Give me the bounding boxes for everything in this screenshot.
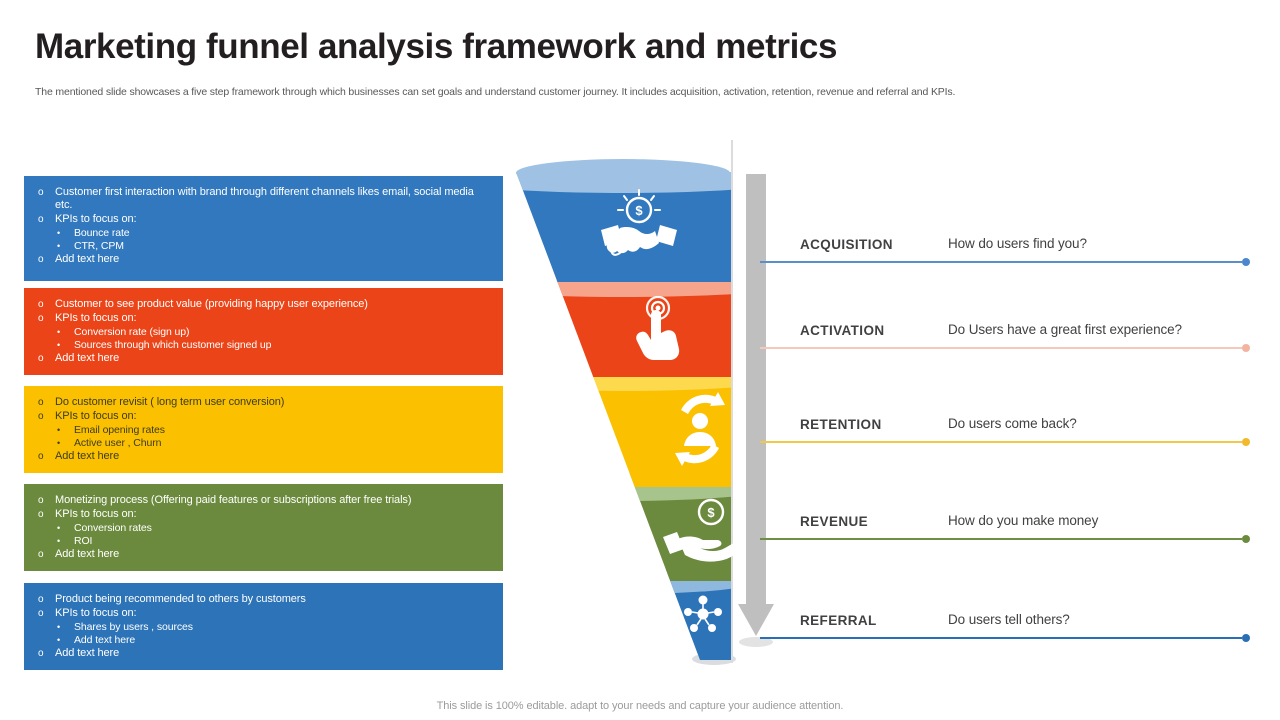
stage-end-dot — [1242, 634, 1250, 642]
stage-underline — [760, 637, 1242, 639]
info-line-text: Add text here — [74, 634, 491, 647]
info-line-text: KPIs to focus on: — [55, 508, 491, 521]
info-box-revenue: oMonetizing process (Offering paid featu… — [24, 484, 503, 571]
info-line: •Shares by users , sources — [38, 621, 491, 634]
stage-row-activation: ACTIVATIONDo Users have a great first ex… — [760, 347, 1250, 348]
info-line: •Active user , Churn — [38, 437, 491, 450]
info-line-text: Email opening rates — [74, 424, 491, 437]
bullet-marker: o — [38, 494, 55, 508]
stage-question: Do users come back? — [948, 416, 1077, 431]
info-line-text: KPIs to focus on: — [55, 312, 491, 325]
info-line: oDo customer revisit ( long term user co… — [38, 396, 491, 410]
bullet-marker: o — [38, 186, 55, 200]
stage-underline — [760, 261, 1242, 263]
bullet-marker: o — [38, 213, 55, 227]
info-line-text: Add text here — [55, 352, 491, 365]
bullet-marker: • — [57, 535, 74, 548]
info-line: oKPIs to focus on: — [38, 607, 491, 621]
funnel-top-rim — [516, 159, 730, 187]
info-line-text: Product being recommended to others by c… — [55, 593, 491, 606]
info-line-text: Customer first interaction with brand th… — [55, 186, 491, 213]
info-line-text: CTR, CPM — [74, 240, 491, 253]
info-line: oAdd text here — [38, 253, 491, 267]
info-line: oAdd text here — [38, 647, 491, 661]
info-line: oProduct being recommended to others by … — [38, 593, 491, 607]
info-line-text: Monetizing process (Offering paid featur… — [55, 494, 491, 507]
bullet-marker: o — [38, 548, 55, 562]
info-line-text: Active user , Churn — [74, 437, 491, 450]
funnel-segment-activation — [498, 269, 764, 377]
stage-label: ACTIVATION — [800, 323, 885, 338]
info-box-referral: oProduct being recommended to others by … — [24, 583, 503, 670]
info-line-text: Conversion rates — [74, 522, 491, 535]
bullet-marker: • — [57, 240, 74, 253]
info-line-text: Do customer revisit ( long term user con… — [55, 396, 491, 409]
bullet-marker: o — [38, 450, 55, 464]
page-subtitle: The mentioned slide showcases a five ste… — [35, 86, 1195, 100]
bullet-marker: o — [38, 253, 55, 267]
bullet-marker: • — [57, 437, 74, 450]
info-line: •CTR, CPM — [38, 240, 491, 253]
stage-end-dot — [1242, 438, 1250, 446]
stage-question: Do Users have a great first experience? — [948, 322, 1182, 337]
stage-row-acquisition: ACQUISITIONHow do users find you? — [760, 261, 1250, 262]
funnel-segment-referral — [498, 568, 764, 670]
info-line: oAdd text here — [38, 548, 491, 562]
info-line: •Add text here — [38, 634, 491, 647]
info-line-text: Add text here — [55, 647, 491, 660]
info-line: oKPIs to focus on: — [38, 508, 491, 522]
info-line-text: Customer to see product value (providing… — [55, 298, 491, 311]
page-title: Marketing funnel analysis framework and … — [35, 28, 837, 67]
bullet-marker: • — [57, 227, 74, 240]
info-line-text: Sources through which customer signed up — [74, 339, 491, 352]
info-line: oKPIs to focus on: — [38, 410, 491, 424]
bullet-marker: o — [38, 607, 55, 621]
stage-underline — [760, 441, 1242, 443]
info-box-acquisition: oCustomer first interaction with brand t… — [24, 176, 503, 281]
bullet-marker: o — [38, 593, 55, 607]
info-line-text: Add text here — [55, 450, 491, 463]
bullet-marker: o — [38, 312, 55, 326]
bullet-marker: • — [57, 424, 74, 437]
bullet-marker: o — [38, 352, 55, 366]
info-line: •Email opening rates — [38, 424, 491, 437]
info-line: •Bounce rate — [38, 227, 491, 240]
info-line: •Sources through which customer signed u… — [38, 339, 491, 352]
bullet-marker: o — [38, 647, 55, 661]
info-line: oAdd text here — [38, 450, 491, 464]
stage-label: REFERRAL — [800, 613, 877, 628]
funnel-segment-retention — [498, 363, 764, 487]
bullet-marker: o — [38, 396, 55, 410]
bullet-marker: o — [38, 298, 55, 312]
bullet-marker: • — [57, 621, 74, 634]
info-line: •Conversion rate (sign up) — [38, 326, 491, 339]
info-box-retention: oDo customer revisit ( long term user co… — [24, 386, 503, 473]
info-line-text: Conversion rate (sign up) — [74, 326, 491, 339]
stage-end-dot — [1242, 344, 1250, 352]
info-line: oKPIs to focus on: — [38, 213, 491, 227]
stage-question: How do you make money — [948, 513, 1098, 528]
info-box-activation: oCustomer to see product value (providin… — [24, 288, 503, 375]
info-line-text: ROI — [74, 535, 491, 548]
stage-row-retention: RETENTIONDo users come back? — [760, 441, 1250, 442]
funnel-segment-revenue — [498, 473, 764, 581]
svg-text:$: $ — [707, 505, 715, 520]
stage-end-dot — [1242, 535, 1250, 543]
info-line-text: Shares by users , sources — [74, 621, 491, 634]
funnel-graphic: $ — [498, 140, 764, 675]
info-line-text: Add text here — [55, 253, 491, 266]
info-line: oCustomer first interaction with brand t… — [38, 186, 491, 213]
bullet-marker: • — [57, 339, 74, 352]
info-line-text: KPIs to focus on: — [55, 213, 491, 226]
stage-underline — [760, 538, 1242, 540]
info-line: oAdd text here — [38, 352, 491, 366]
info-line-text: Add text here — [55, 548, 491, 561]
bullet-marker: • — [57, 522, 74, 535]
info-line-text: Bounce rate — [74, 227, 491, 240]
stage-question: How do users find you? — [948, 236, 1087, 251]
stage-question: Do users tell others? — [948, 612, 1070, 627]
info-line: oKPIs to focus on: — [38, 312, 491, 326]
stage-row-referral: REFERRALDo users tell others? — [760, 637, 1250, 638]
stage-underline — [760, 347, 1242, 349]
downward-progress-arrow — [738, 174, 774, 653]
stage-label: ACQUISITION — [800, 237, 893, 252]
bullet-marker: o — [38, 508, 55, 522]
bullet-marker: • — [57, 634, 74, 647]
info-line-text: KPIs to focus on: — [55, 607, 491, 620]
stage-label: RETENTION — [800, 417, 882, 432]
info-line: oCustomer to see product value (providin… — [38, 298, 491, 312]
svg-text:$: $ — [635, 203, 643, 218]
stage-end-dot — [1242, 258, 1250, 266]
stage-label: REVENUE — [800, 514, 868, 529]
stage-row-revenue: REVENUEHow do you make money — [760, 538, 1250, 539]
bullet-marker: • — [57, 326, 74, 339]
info-line: oMonetizing process (Offering paid featu… — [38, 494, 491, 508]
footer-note: This slide is 100% editable. adapt to yo… — [0, 700, 1280, 712]
info-line-text: KPIs to focus on: — [55, 410, 491, 423]
info-line: •ROI — [38, 535, 491, 548]
info-line: •Conversion rates — [38, 522, 491, 535]
bullet-marker: o — [38, 410, 55, 424]
slide-root: Marketing funnel analysis framework and … — [0, 0, 1280, 720]
